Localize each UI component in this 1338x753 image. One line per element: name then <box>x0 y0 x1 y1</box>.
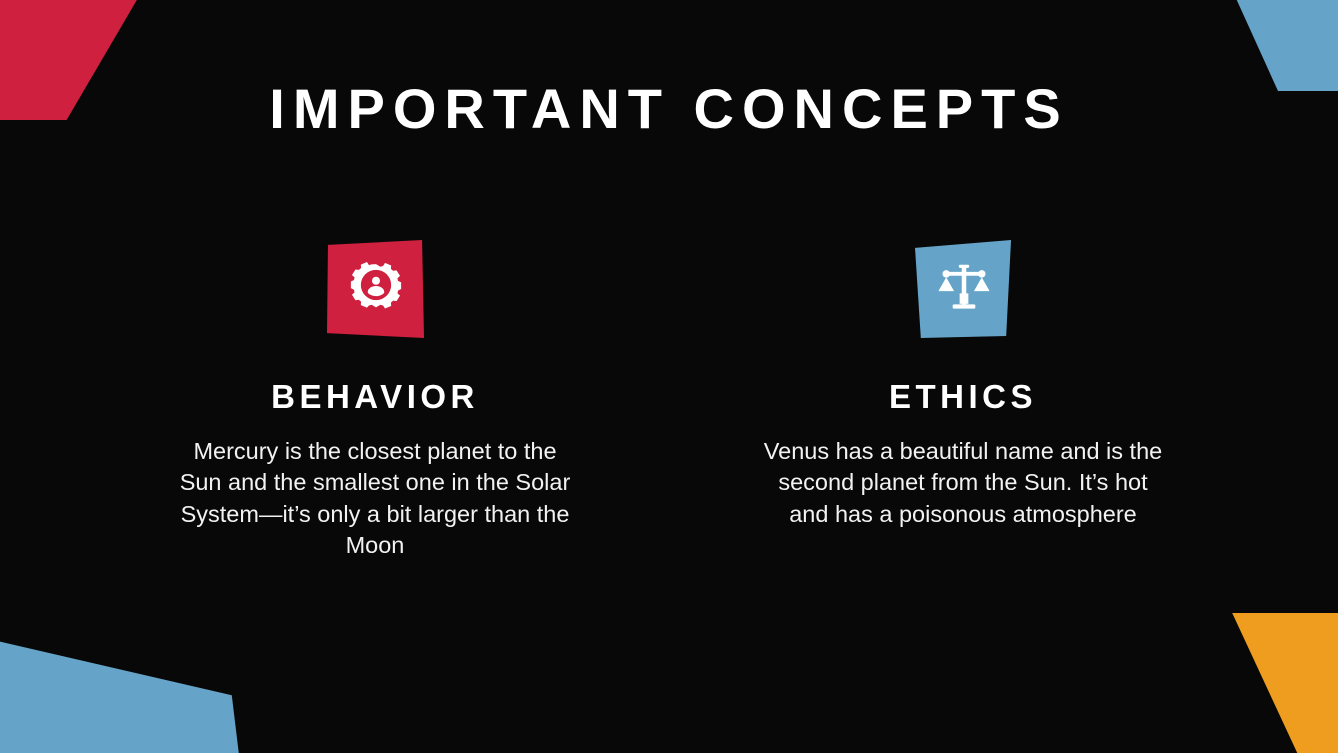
concept-columns: BEHAVIOR Mercury is the closest planet t… <box>150 228 1188 561</box>
slide-title: IMPORTANT CONCEPTS <box>0 80 1338 139</box>
bottom-right-orange-shape <box>1230 613 1338 753</box>
behavior-heading: BEHAVIOR <box>271 378 479 416</box>
ethics-heading: ETHICS <box>889 378 1037 416</box>
concept-column-ethics: ETHICS Venus has a beautiful name and is… <box>738 228 1188 561</box>
presentation-slide: IMPORTANT CONCEPTS BEHAVIOR Mercury is t… <box>0 0 1338 753</box>
bottom-left-blue-shape <box>0 640 239 753</box>
behavior-icon-card <box>315 228 435 346</box>
concept-column-behavior: BEHAVIOR Mercury is the closest planet t… <box>150 228 600 561</box>
behavior-body-text: Mercury is the closest planet to the Sun… <box>170 436 580 561</box>
gear-user-icon <box>327 240 424 338</box>
top-right-blue-shape <box>1216 0 1338 91</box>
ethics-body-text: Venus has a beautiful name and is the se… <box>758 436 1168 530</box>
ethics-icon-card <box>903 228 1023 346</box>
balance-scale-icon <box>915 240 1012 338</box>
